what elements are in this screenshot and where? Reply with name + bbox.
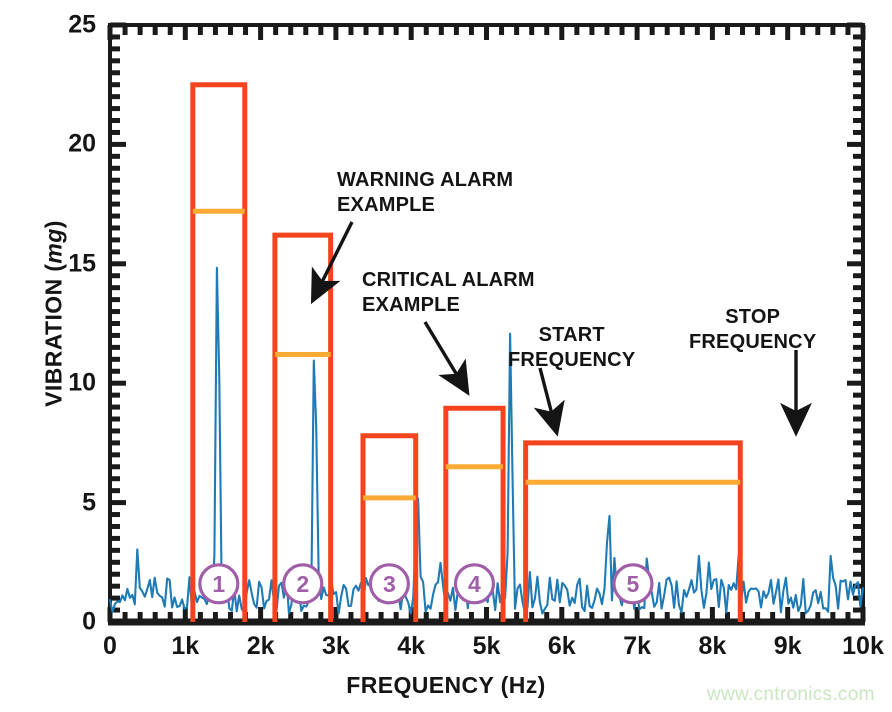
watermark: www.cntronics.com	[707, 684, 875, 706]
band-marker-label: 2	[296, 571, 309, 597]
annotation-arrow-critical-alarm	[425, 322, 466, 390]
annotation-stop-frequency: STOP FREQUENCY	[689, 305, 816, 355]
chart-root: VIBRATION (mg) FREQUENCY (Hz) 0510152025…	[0, 0, 892, 712]
band-marker-label: 1	[212, 571, 225, 597]
band-marker-label: 5	[627, 571, 640, 597]
annotation-warning-alarm: WARNING ALARM EXAMPLE	[337, 168, 513, 218]
band-marker-label: 3	[383, 571, 396, 597]
annotation-critical-alarm: CRITICAL ALARM EXAMPLE	[362, 268, 535, 318]
annotation-start-frequency: START FREQUENCY	[508, 323, 635, 373]
plot-area: 12345	[0, 0, 892, 712]
annotation-arrow-start-frequency	[540, 368, 556, 430]
band-marker-label: 4	[468, 571, 481, 597]
